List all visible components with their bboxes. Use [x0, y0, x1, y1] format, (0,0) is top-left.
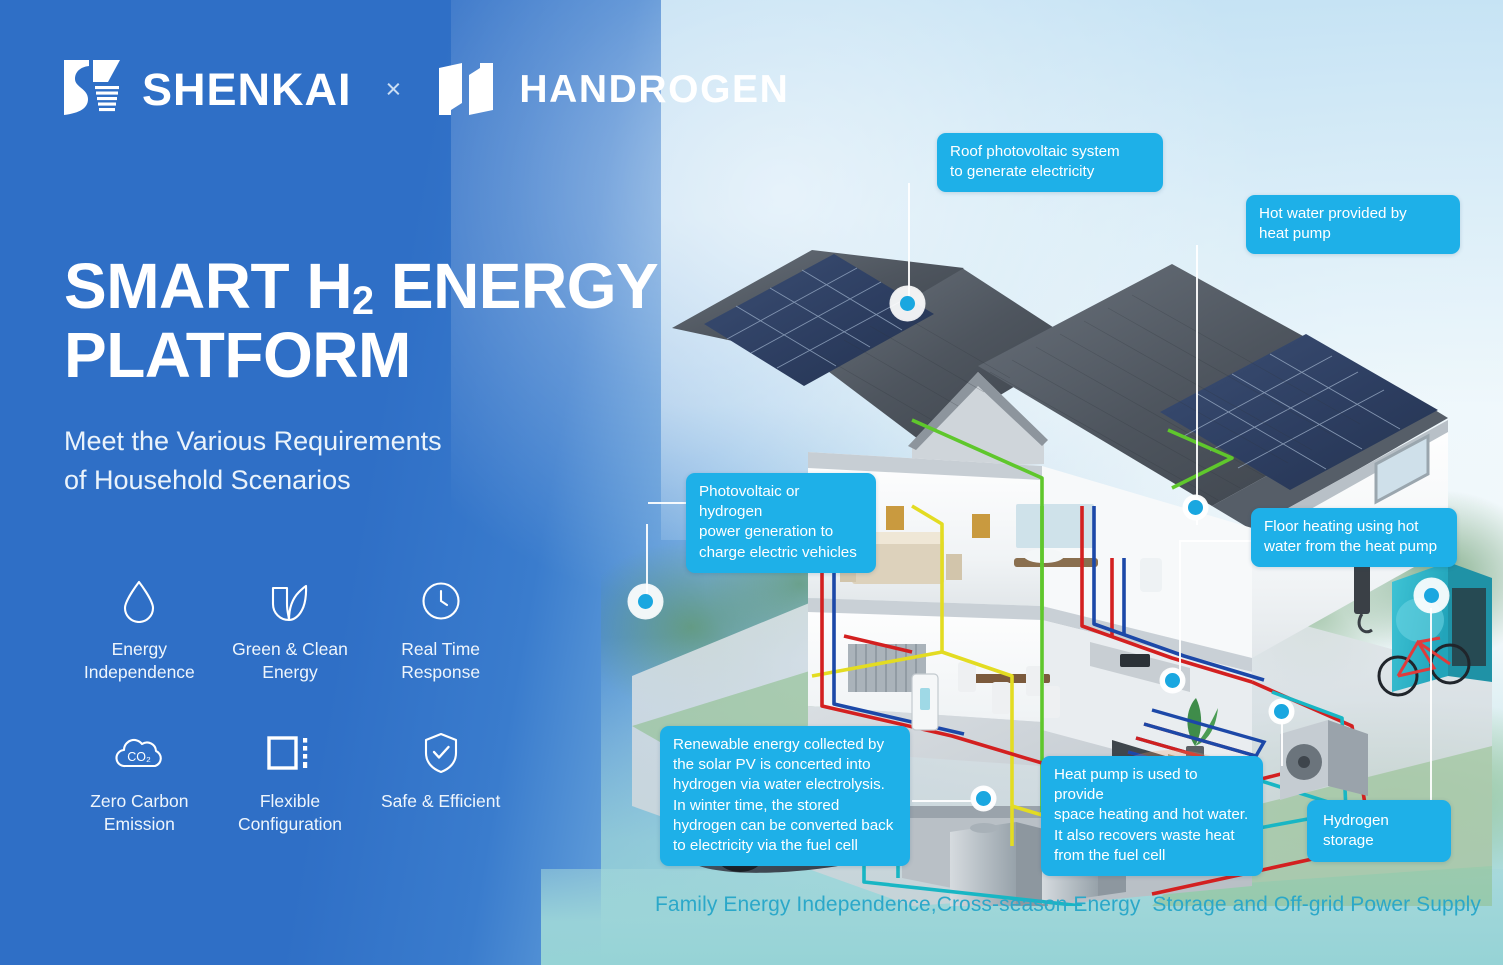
hotspot-hot-water[interactable] — [1188, 500, 1203, 515]
sink-basin — [1024, 549, 1064, 563]
callout-heat-pump[interactable]: Heat pump is used to provide space heati… — [1041, 756, 1263, 876]
co2-cloud-icon: CO₂ — [112, 730, 166, 776]
clock-icon — [420, 578, 462, 624]
modules-icon — [267, 730, 313, 776]
toilet — [1140, 558, 1162, 592]
callout-electrolysis[interactable]: Renewable energy collected by the solar … — [660, 726, 910, 866]
infographic-poster: SHENKAI × HANDROGEN SMART H2 ENERGYPLATF… — [0, 0, 1503, 965]
partner-b-wordmark: HANDROGEN — [519, 70, 789, 109]
feature-real-time-response: Real Time Response — [365, 578, 516, 684]
leader-electrolysis — [912, 800, 982, 802]
callout-floor-heating[interactable]: Floor heating using hot water from the h… — [1251, 508, 1457, 567]
leader-ev-dot — [646, 524, 648, 602]
ev-charger-post — [1354, 562, 1372, 632]
partner-b-logo: HANDROGEN — [435, 62, 789, 116]
feature-label: Safe & Efficient — [381, 790, 500, 813]
feature-label: Energy Independence — [84, 638, 195, 684]
leader-floor-dot — [1179, 540, 1181, 682]
hotspot-h2-storage[interactable] — [1424, 588, 1439, 603]
handrogen-logo-mark-icon — [435, 62, 501, 116]
feature-zero-carbon-emission: CO₂ Zero Carbon Emission — [64, 730, 215, 836]
feature-safe-efficient: Safe & Efficient — [365, 730, 516, 836]
feature-grid: Energy Independence Green & Clean Energy… — [64, 578, 516, 836]
feature-label: Zero Carbon Emission — [90, 790, 188, 836]
leader-h2-storage — [1430, 608, 1432, 804]
leaf-icon — [269, 578, 311, 624]
shenkai-logo-mark-icon — [62, 58, 128, 120]
feature-label: Green & Clean Energy — [232, 638, 348, 684]
feature-flexible-configuration: Flexible Configuration — [215, 730, 366, 836]
callout-ev-charging[interactable]: Photovoltaic or hydrogen power generatio… — [686, 473, 876, 573]
ev-wallbox-charger — [912, 674, 938, 730]
water-drop-icon — [121, 578, 157, 624]
title-line-2: PLATFORM — [64, 319, 411, 391]
feature-label: Flexible Configuration — [238, 790, 342, 836]
wall-lamp-3 — [972, 514, 990, 538]
title-subscript: 2 — [352, 279, 374, 323]
svg-text:CO₂: CO₂ — [128, 750, 152, 764]
hotspot-roof-pv[interactable] — [900, 296, 915, 311]
wall-lamp-2 — [886, 506, 904, 530]
hotspot-electrolysis[interactable] — [976, 791, 991, 806]
callout-h2-storage[interactable]: Hydrogen storage — [1307, 800, 1451, 862]
nightstand-right — [946, 554, 962, 580]
oven — [1120, 654, 1150, 667]
feature-green-clean-energy: Green & Clean Energy — [215, 578, 366, 684]
partner-a-wordmark: SHENKAI — [142, 67, 352, 112]
feature-energy-independence: Energy Independence — [64, 578, 215, 684]
leader-floor-heating — [1180, 540, 1258, 542]
bottom-caption: Family Energy Independence,Cross-season … — [655, 893, 1475, 917]
hotspot-floor-heating[interactable] — [1165, 673, 1180, 688]
brand-header: SHENKAI × HANDROGEN — [62, 58, 789, 120]
leader-roof-pv — [908, 183, 910, 303]
leader-hot-water — [1196, 245, 1198, 525]
feature-label: Real Time Response — [401, 638, 480, 684]
shield-check-icon — [422, 730, 460, 776]
brand-separator-icon: × — [386, 74, 402, 105]
callout-roof-pv[interactable]: Roof photovoltaic system to generate ele… — [937, 133, 1163, 192]
title-part-1: SMART H — [64, 250, 352, 322]
hotspot-heat-pump[interactable] — [1274, 704, 1289, 719]
callout-hot-water[interactable]: Hot water provided by heat pump — [1246, 195, 1460, 254]
hotspot-ev-charging[interactable] — [638, 594, 653, 609]
partner-a-logo: SHENKAI — [62, 58, 352, 120]
